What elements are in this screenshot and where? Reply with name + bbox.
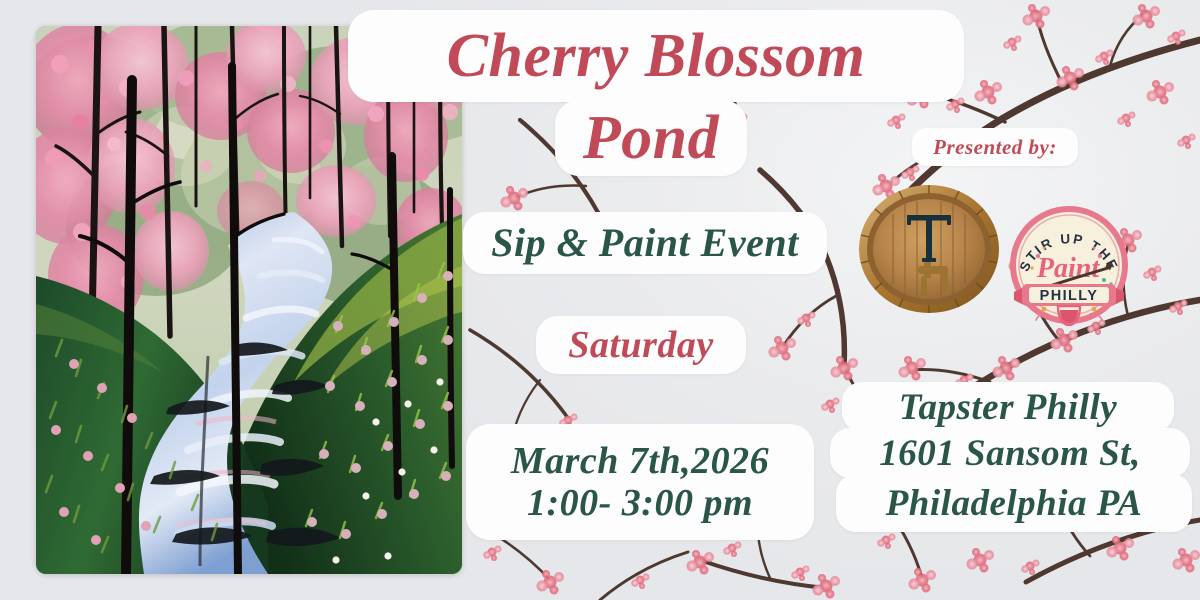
subtitle-plaque: Sip & Paint Event	[463, 212, 827, 274]
venue-street: 1601 Sansom St,	[879, 435, 1140, 472]
stir-up-the-paint-philly-logo: STIR UP THE Paint	[1008, 204, 1130, 326]
logo-banner-text: PHILLY	[1040, 288, 1099, 304]
page-title-line-2: Pond	[583, 107, 719, 169]
presented-by-plaque: Presented by:	[912, 128, 1078, 166]
barrel-icon	[856, 182, 1002, 316]
venue-plaque-street: 1601 Sansom St,	[830, 428, 1190, 478]
venue-plaque-city: Philadelphia PA	[836, 474, 1192, 532]
cherry-blossom-pond-painting	[36, 26, 462, 574]
venue-plaque-name: Tapster Philly	[842, 382, 1174, 432]
page-title-line-1: Cherry Blossom	[447, 25, 866, 87]
painting-artwork	[36, 26, 462, 574]
title-plaque-line-1: Cherry Blossom	[348, 10, 964, 102]
tapster-barrel-logo	[856, 182, 1002, 316]
event-flyer: Cherry Blossom Pond Sip & Paint Event Sa…	[0, 0, 1200, 600]
presented-by-label: Presented by:	[933, 137, 1057, 158]
venue-name: Tapster Philly	[899, 389, 1117, 426]
day-plaque: Saturday	[536, 316, 746, 374]
venue-city-state: Philadelphia PA	[886, 485, 1143, 522]
event-time: 1:00- 3:00 pm	[527, 484, 753, 522]
event-subtitle: Sip & Paint Event	[491, 223, 798, 263]
datetime-plaque: March 7th,2026 1:00- 3:00 pm	[466, 424, 814, 540]
event-day: Saturday	[568, 326, 713, 364]
event-date: March 7th,2026	[511, 442, 769, 480]
title-plaque-line-2: Pond	[555, 100, 747, 176]
paint-logo-badge: STIR UP THE Paint	[1008, 204, 1130, 326]
